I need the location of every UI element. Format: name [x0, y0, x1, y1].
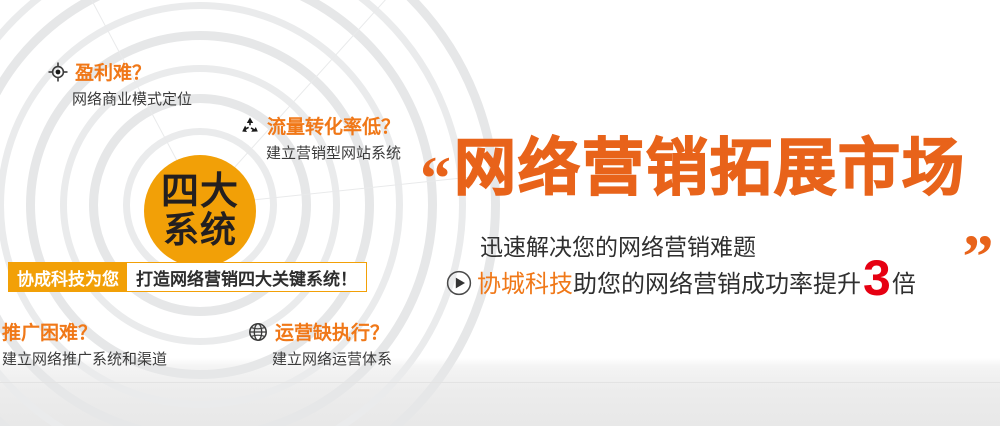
feature-title: 流量转化率低？	[267, 112, 400, 139]
close-quote-mark: „	[963, 204, 994, 247]
open-quote-mark: “	[420, 158, 451, 201]
multiplier-unit: 倍	[892, 264, 916, 299]
feature-title: 推广困难？	[2, 318, 97, 345]
center-badge: 四大 系统	[144, 155, 256, 267]
recycle-icon	[240, 116, 260, 136]
center-badge-line-2: 系统	[163, 212, 237, 249]
callout-bar: 协成科技为您 打造网络营销四大关键系统！	[8, 262, 367, 292]
target-icon	[48, 62, 68, 82]
feature-item-profit: 盈利难？ 网络商业模式定位	[48, 58, 192, 109]
globe-icon	[248, 322, 268, 342]
feature-subtitle: 建立网络运营体系	[272, 348, 392, 369]
headline-text: 网络营销拓展市场	[454, 136, 966, 201]
callout-text: 打造网络营销四大关键系统！	[127, 263, 366, 291]
play-circle-icon	[446, 270, 472, 296]
feature-title-row: 盈利难？	[48, 58, 192, 85]
marketing-banner: 四大 系统 盈利难？ 网络商业模式定位 流量转化率低？	[0, 0, 1000, 426]
brand-name: 协城科技	[477, 264, 573, 299]
feature-title-row: 推广困难？	[2, 318, 167, 345]
headline-block: “ 网络营销拓展市场 „	[420, 136, 1000, 236]
feature-subtitle: 建立营销型网站系统	[266, 142, 401, 163]
feature-item-conversion: 流量转化率低？ 建立营销型网站系统	[240, 112, 401, 163]
feature-subtitle: 网络商业模式定位	[72, 88, 192, 109]
feature-title-row: 流量转化率低？	[240, 112, 401, 139]
feature-title: 盈利难？	[75, 58, 151, 85]
multiplier-number: 3	[863, 258, 891, 299]
feature-title: 运营缺执行？	[275, 318, 389, 345]
feature-subtitle: 建立网络推广系统和渠道	[2, 348, 167, 369]
feature-title-row: 运营缺执行？	[248, 318, 392, 345]
center-badge-line-1: 四大	[161, 173, 239, 212]
sub-line-2-text: 助您的网络营销成功率提升	[573, 264, 861, 299]
feature-item-promotion: 推广困难？ 建立网络推广系统和渠道	[2, 318, 167, 369]
bottom-divider	[0, 382, 1000, 383]
sub-headline-line-1: 迅速解决您的网络营销难题	[480, 228, 756, 262]
feature-item-operations: 运营缺执行？ 建立网络运营体系	[248, 318, 392, 369]
sub-headline-line-2: 协城科技 助您的网络营销成功率提升 3 倍	[446, 258, 916, 299]
callout-highlight: 协成科技为您	[9, 263, 127, 291]
